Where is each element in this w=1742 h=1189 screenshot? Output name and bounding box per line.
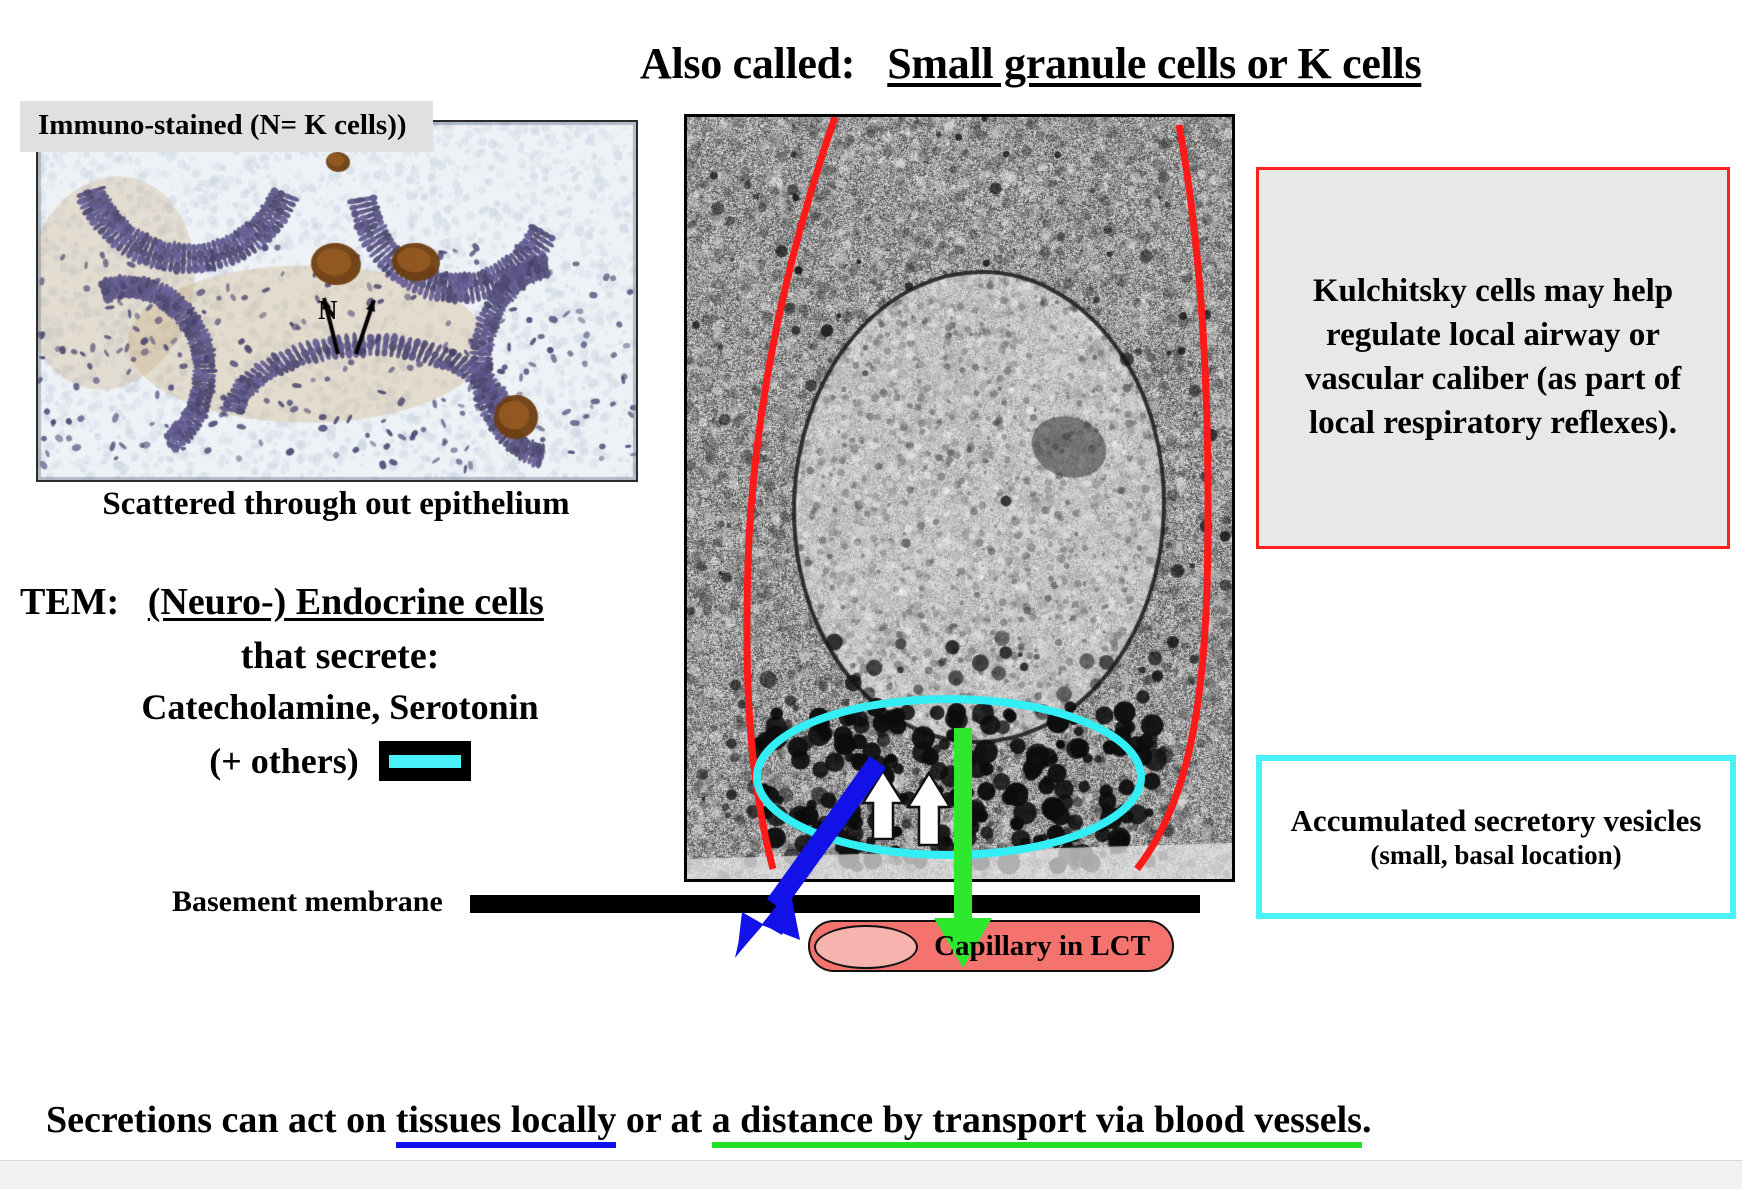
title-underlined: Small granule cells or K cells — [887, 39, 1421, 88]
tem-heading-prefix: TEM: — [20, 581, 119, 623]
histology-subcaption: Scattered through out epithelium — [36, 486, 636, 523]
bottom-strip — [0, 1160, 1742, 1189]
bottom-part5: . — [1362, 1099, 1372, 1141]
kulchitsky-info-text: Kulchitsky cells may help regulate local… — [1259, 266, 1727, 450]
tem-secretions-list: Catecholamine, Serotonin — [20, 686, 660, 728]
bottom-part1: Secretions can act on — [46, 1099, 396, 1141]
bottom-summary-sentence: Secretions can act on tissues locally or… — [46, 1098, 1706, 1142]
white-up-arrow-icon-1 — [863, 771, 903, 839]
histology-n-marker: N — [318, 295, 338, 326]
tem-secrete-line: that secrete: — [20, 634, 660, 678]
slide-canvas: Also called: Small granule cells or K ce… — [0, 0, 1742, 1188]
page-title: Also called: Small granule cells or K ce… — [640, 38, 1730, 89]
cell-outline-right-red — [1137, 125, 1208, 869]
tem-others-row: (+ others) — [20, 736, 660, 786]
basement-membrane-bar — [470, 895, 1200, 913]
tem-micrograph-image — [684, 114, 1235, 882]
bottom-green-underlined: a distance by transport via blood vessel… — [712, 1099, 1362, 1148]
histology-caption-box: Immuno-stained (N= K cells)) — [20, 101, 433, 152]
capillary-label: Capillary in LCT — [934, 930, 1172, 963]
tem-heading: TEM: (Neuro-) Endocrine cells — [20, 580, 660, 624]
kulchitsky-info-box: Kulchitsky cells may help regulate local… — [1256, 167, 1730, 549]
vesicle-region-ellipse — [757, 699, 1141, 855]
vesicles-info-box: Accumulated secretory vesicles (small, b… — [1256, 755, 1736, 919]
red-blood-cell-ellipse — [814, 925, 918, 969]
vesicles-info-small: (small, basal location) — [1291, 839, 1702, 872]
tem-others-label: (+ others) — [209, 740, 358, 782]
white-up-arrow-icon-2 — [908, 773, 950, 845]
tem-annotation-overlay — [687, 117, 1232, 879]
bottom-blue-underlined: tissues locally — [396, 1099, 617, 1148]
cyan-bar — [389, 755, 461, 768]
tem-heading-underlined: (Neuro-) Endocrine cells — [148, 581, 544, 623]
vesicles-info-text: Accumulated secretory vesicles (small, b… — [1279, 800, 1714, 875]
vesicles-info-main: Accumulated secretory vesicles — [1291, 803, 1702, 838]
basement-membrane-label: Basement membrane — [172, 885, 443, 919]
capillary-shape: Capillary in LCT — [808, 920, 1174, 972]
cyan-bar-swatch-icon — [379, 741, 471, 781]
title-prefix: Also called: — [640, 39, 855, 88]
bottom-part3: or at — [616, 1099, 711, 1141]
